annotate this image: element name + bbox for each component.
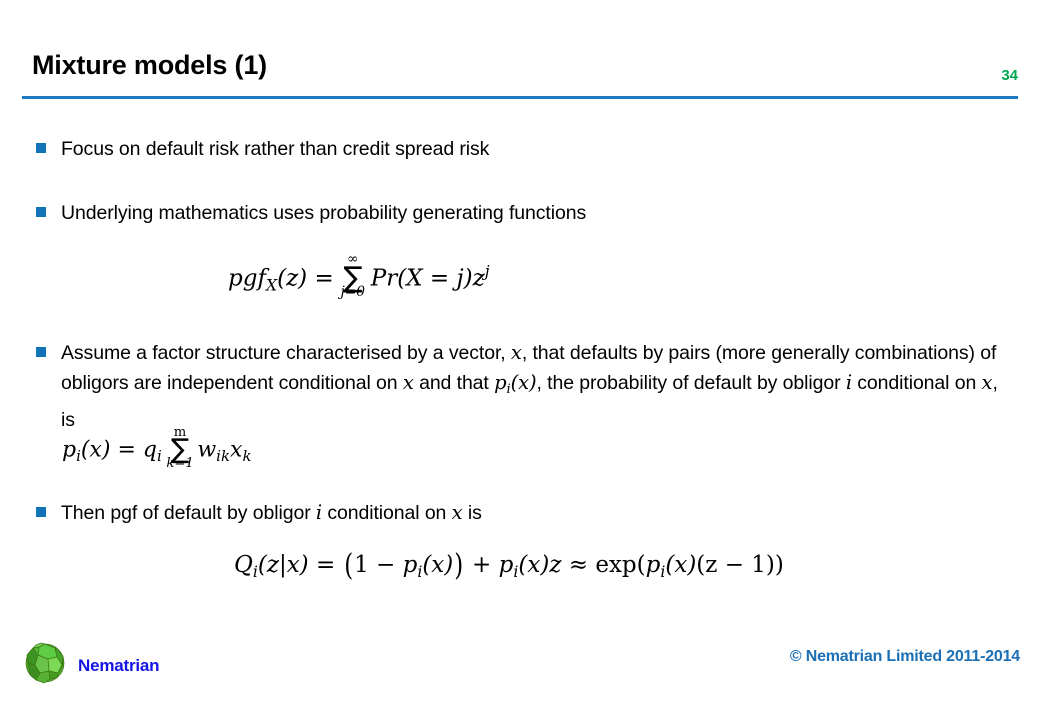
paragraph-lead: Then pgf of default by obligor [61,502,316,524]
summation-operator-icon: ∞ ∑ j=0 [343,260,362,294]
inline-var-x: x [982,371,993,394]
inline-var-x: x [403,371,414,394]
brand-name: Nematrian [78,656,159,676]
equation-probability-operator: Pr [371,265,397,291]
equation-p-argument: (x) [81,437,111,462]
inline-func-p-argument: (x) [511,371,537,394]
inline-func-p: pi(x) [494,371,536,394]
slide-header: Mixture models (1) 34 [0,0,1040,100]
equation-p2-name: p [499,552,514,578]
inline-var-x: x [511,341,522,364]
page-number: 34 [1001,68,1018,83]
equation-x-subscript: k [242,447,251,465]
equation-Q-name: Q [234,552,253,578]
sum-upper-limit: m [174,425,187,440]
equation-Q-argument: (z|x) [258,552,309,578]
equation-p3-name: p [646,552,661,578]
sum-upper-limit: ∞ [347,251,359,267]
sum-lower-limit: j=0 [340,284,365,300]
summation-operator-icon: m ∑ k=1 [171,433,190,465]
paragraph-mid-1: conditional on [322,502,452,524]
sum-lower-limit: k=1 [166,456,193,471]
equation-tail: (z − 1)) [696,552,784,578]
copyright-notice: © Nematrian Limited 2011-2014 [790,648,1020,666]
equation-exp-operator: exp [595,552,636,578]
bullet-square-icon [36,507,46,517]
equation-p-name: p [62,437,76,462]
equation-close-paren: ) [455,548,464,582]
equation-q-subscript: i [157,447,162,465]
bullet-text: Focus on default risk rather than credit… [61,134,489,164]
bullet-text: Then pgf of default by obligor i conditi… [61,498,482,528]
equation-p2-argument: (x) [518,552,549,578]
paragraph-mid-4: conditional on [852,372,982,394]
equation-q-name: q [143,437,157,462]
equation-exp-open-paren: ( [637,552,646,578]
paragraph-lead: Assume a factor structure characterised … [61,342,511,364]
bullet-item-then-pgf: Then pgf of default by obligor i conditi… [36,498,936,528]
equation-plus-sign: + [465,552,499,578]
equation-z-variable: z [473,265,485,291]
equation-z-exponent: j [485,262,490,281]
bullet-square-icon [36,207,46,217]
bullet-item-focus: Focus on default risk rather than credit… [36,134,936,164]
inline-func-p-name: p [494,371,506,394]
bullet-item-underlying-mathematics: Underlying mathematics uses probability … [36,198,936,228]
equation-lhs-argument: (z) [277,265,307,291]
equation-p-argument: (x) [422,552,453,578]
slide-footer: Nematrian © Nematrian Limited 2011-2014 [0,620,1040,720]
equation-lhs-name: pgf [228,265,266,291]
bullet-square-icon [36,143,46,153]
slide-body: Focus on default risk rather than credit… [0,100,1040,620]
equation-p-name: p [403,552,418,578]
equation-equals-sign: = [117,437,135,462]
equation-w-subscript: ik [216,447,230,465]
equation-equals-sign: = [316,552,335,578]
paragraph-mid-2: and that [414,372,494,394]
equation-q-i-definition: Qi(z|x) = (1 − pi(x)) + pi(x)z ≈ exp(pi(… [234,548,784,582]
nematrian-polyhedron-logo-icon [22,640,68,691]
equation-w-name: w [197,437,216,462]
equation-probability-body: (X = j) [397,265,472,291]
bullet-text: Underlying mathematics uses probability … [61,198,586,228]
inline-var-x: x [452,501,463,524]
page-title: Mixture models (1) [32,52,267,79]
equation-lhs-subscript: X [266,275,277,294]
equation-open-paren: ( [344,548,353,582]
equation-z-variable: z [549,552,561,578]
equation-p3-argument: (x) [665,552,696,578]
bullet-square-icon [36,347,46,357]
paragraph-tail: is [463,502,482,524]
equation-one-minus: 1 − [354,552,403,578]
equation-approx-sign: ≈ [561,552,595,578]
title-divider-rule [22,96,1018,99]
equation-pgf-definition: pgfX(z) = ∞ ∑ j=0 Pr(X = j)zj [228,260,490,294]
bullet-text: Assume a factor structure characterised … [61,338,1006,435]
brand-group: Nematrian [22,640,159,691]
bullet-item-factor-structure: Assume a factor structure characterised … [36,338,1006,435]
equation-x-name: x [230,437,242,462]
equation-p-i-definition: pi(x) = qi m ∑ k=1 wikxk [62,433,252,465]
paragraph-mid-3: , the probability of default by obligor [537,372,846,394]
equation-equals-sign: = [314,265,333,291]
